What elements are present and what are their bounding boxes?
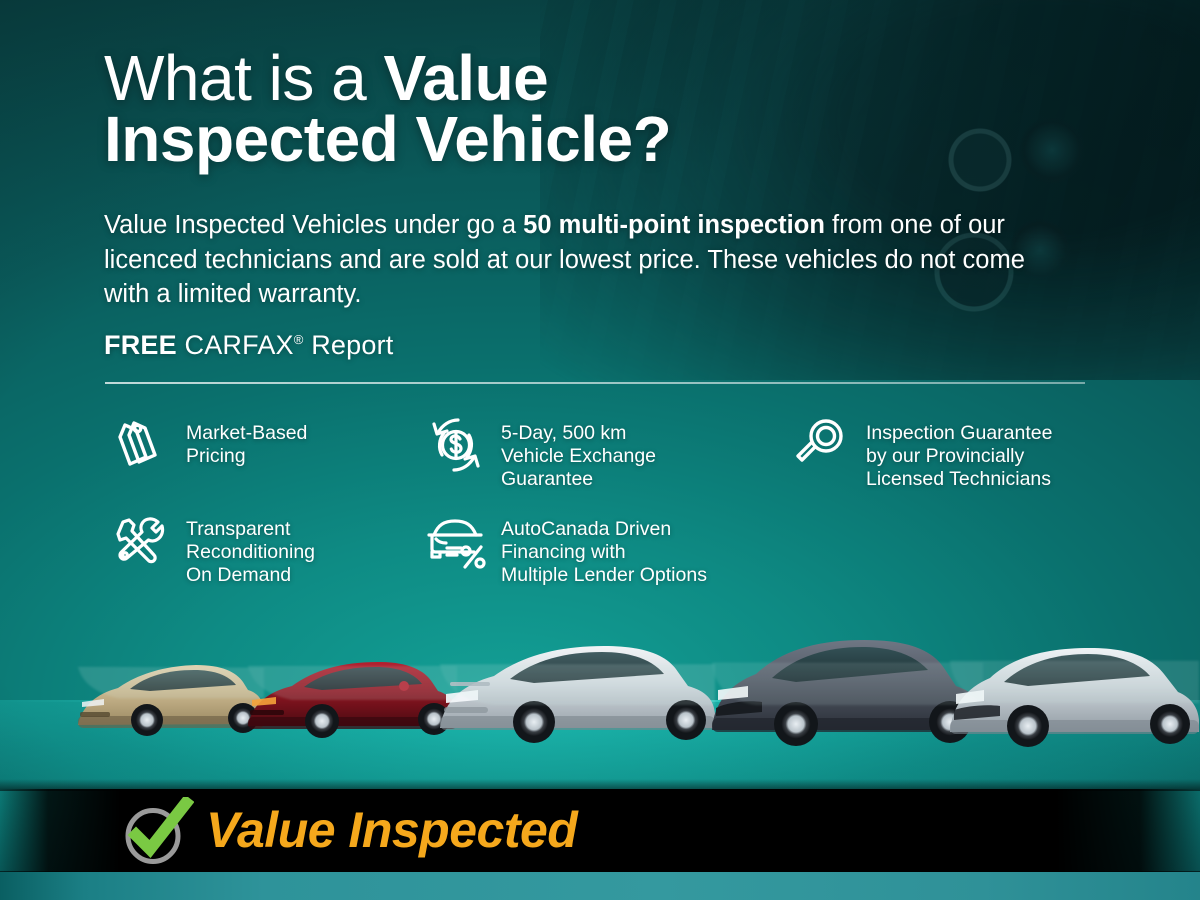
- body-copy: Value Inspected Vehicles under go a 50 m…: [104, 208, 1034, 312]
- feature-line: On Demand: [186, 564, 315, 587]
- bottom-accent-strip: [0, 872, 1200, 900]
- check-circle-icon: [120, 797, 194, 867]
- feature-line: Guarantee: [501, 468, 656, 491]
- feature-grid: Market-Based Pricing: [104, 408, 1114, 586]
- feature-line: 5-Day, 500 km: [501, 422, 656, 445]
- feature-label: Market-Based Pricing: [186, 408, 307, 468]
- exchange-dollar-icon: [419, 408, 493, 482]
- feature-label: 5-Day, 500 km Vehicle Exchange Guarantee: [501, 408, 656, 490]
- wrench-screwdriver-icon: [104, 504, 178, 578]
- carfax-report: Report: [311, 330, 393, 360]
- feature-line: Market-Based: [186, 422, 307, 445]
- feature-autocanada-financing: AutoCanada Driven Financing with Multipl…: [419, 504, 784, 586]
- section-divider: [105, 382, 1085, 384]
- value-inspected-logo: Value Inspected: [120, 797, 577, 867]
- feature-label: Transparent Reconditioning On Demand: [186, 504, 315, 586]
- feature-vehicle-exchange: 5-Day, 500 km Vehicle Exchange Guarantee: [419, 408, 784, 504]
- carfax-brand: CARFAX: [185, 330, 294, 360]
- page-title: What is a Value Inspected Vehicle?: [104, 48, 864, 170]
- feature-line: Vehicle Exchange: [501, 445, 656, 468]
- feature-market-based-pricing: Market-Based Pricing: [104, 408, 419, 504]
- car-percent-icon: [419, 504, 493, 578]
- feature-line: Financing with: [501, 541, 707, 564]
- feature-label: AutoCanada Driven Financing with Multipl…: [501, 504, 707, 586]
- feature-inspection-guarantee: Inspection Guarantee by our Provincially…: [784, 408, 1114, 504]
- carfax-line: FREE CARFAX® Report: [104, 330, 393, 361]
- feature-line: AutoCanada Driven: [501, 518, 707, 541]
- feature-line: Inspection Guarantee: [866, 422, 1052, 445]
- feature-line: Transparent: [186, 518, 315, 541]
- registered-mark: ®: [294, 332, 304, 347]
- content-layer: What is a Value Inspected Vehicle? Value…: [0, 0, 1200, 900]
- feature-row-1: Market-Based Pricing: [104, 408, 1114, 504]
- body-bold-inspection: 50 multi-point inspection: [523, 211, 825, 239]
- feature-line: by our Provincially: [866, 445, 1052, 468]
- feature-transparent-reconditioning: Transparent Reconditioning On Demand: [104, 504, 419, 586]
- feature-line: Licensed Technicians: [866, 468, 1052, 491]
- carfax-free: FREE: [104, 330, 177, 360]
- feature-row-2: Transparent Reconditioning On Demand: [104, 504, 1114, 586]
- body-part1: Value Inspected Vehicles under go a: [104, 211, 523, 239]
- logo-wordmark: Value Inspected: [206, 805, 577, 859]
- poster-canvas: What is a Value Inspected Vehicle? Value…: [0, 0, 1200, 900]
- price-tags-icon: [104, 408, 178, 482]
- magnifying-glass-icon: [784, 408, 858, 482]
- feature-line: Reconditioning: [186, 541, 315, 564]
- headline-bold-rest: Inspected Vehicle?: [104, 103, 671, 175]
- feature-line: Multiple Lender Options: [501, 564, 707, 587]
- feature-label: Inspection Guarantee by our Provincially…: [866, 408, 1052, 490]
- feature-line: Pricing: [186, 445, 307, 468]
